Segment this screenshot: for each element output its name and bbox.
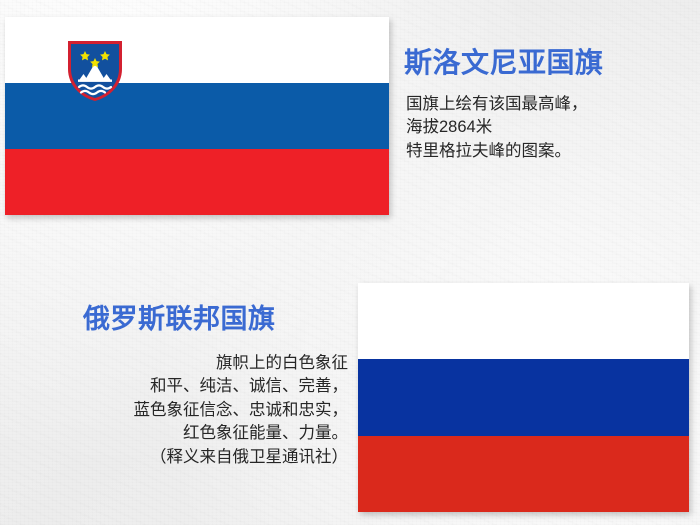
russia-white-stripe bbox=[358, 283, 689, 359]
flag-of-russia bbox=[358, 283, 689, 512]
coat-of-arms-of-slovenia-icon bbox=[66, 39, 124, 103]
slovenia-blue-stripe bbox=[5, 83, 389, 149]
russia-heading: 俄罗斯联邦国旗 bbox=[83, 297, 276, 336]
russia-red-stripe bbox=[358, 436, 689, 512]
slovenia-red-stripe bbox=[5, 149, 389, 215]
slovenia-white-stripe bbox=[5, 17, 389, 83]
flag-of-slovenia bbox=[5, 17, 389, 215]
slovenia-heading: 斯洛文尼亚国旗 bbox=[404, 41, 604, 81]
slide-canvas: 斯洛文尼亚国旗 国旗上绘有该国最高峰， 海拔2864米 特里格拉夫峰的图案。 俄… bbox=[0, 0, 700, 525]
slovenia-description: 国旗上绘有该国最高峰， 海拔2864米 特里格拉夫峰的图案。 bbox=[406, 93, 686, 163]
russia-blue-stripe bbox=[358, 359, 689, 435]
russia-description: 旗帜上的白色象征 和平、纯洁、诚信、完善， 蓝色象征信念、忠诚和忠实， 红色象征… bbox=[24, 352, 348, 469]
mountain-base bbox=[78, 80, 112, 82]
